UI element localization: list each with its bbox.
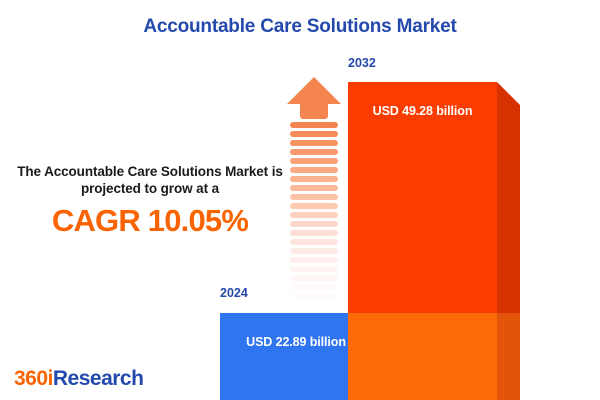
- arrow-segment: [290, 230, 338, 236]
- arrow-segment: [290, 140, 338, 146]
- arrow-segment: [290, 194, 338, 200]
- brand-logo: 360iResearch: [14, 367, 143, 391]
- bar-2032-value-label: USD 49.28 billion: [348, 104, 497, 118]
- arrow-segment: [290, 239, 338, 245]
- bar-label-year-2024: 2024: [220, 286, 248, 300]
- arrow-segment: [290, 185, 338, 191]
- arrow-head-icon: [287, 77, 341, 119]
- market-infographic: Accountable Care Solutions Market The Ac…: [0, 0, 600, 400]
- cagr-callout: The Accountable Care Solutions Market is…: [14, 163, 286, 238]
- arrow-segment: [290, 275, 338, 281]
- bar-2032-side-face-overlap: [497, 313, 520, 400]
- arrow-segment: [290, 203, 338, 209]
- arrow-segment: [290, 167, 338, 173]
- bar-label-year-2032: 2032: [348, 56, 376, 70]
- arrow-segment: [290, 149, 338, 155]
- arrow-segment: [290, 122, 338, 128]
- arrow-segment: [290, 158, 338, 164]
- bar-2032-side-face: [497, 105, 520, 313]
- arrow-segment: [290, 248, 338, 254]
- cagr-statement-text: The Accountable Care Solutions Market is…: [14, 163, 286, 197]
- growth-arrow-icon: [287, 77, 341, 293]
- arrow-head-triangle: [287, 77, 341, 104]
- arrow-segment: [290, 221, 338, 227]
- arrow-segment: [290, 176, 338, 182]
- arrow-head-neck: [300, 102, 328, 119]
- page-title: Accountable Care Solutions Market: [0, 16, 600, 38]
- cagr-value-text: CAGR 10.05%: [14, 204, 286, 238]
- arrow-segment: [290, 257, 338, 263]
- brand-logo-prefix: 360i: [14, 367, 53, 390]
- arrow-segment: [290, 293, 338, 299]
- bar-2032-front-face-overlap: [348, 313, 497, 400]
- bar-2032-side-top: [497, 82, 520, 105]
- brand-logo-suffix: Research: [53, 367, 144, 390]
- arrow-segment: [290, 284, 338, 290]
- arrow-gradient-stack: [290, 122, 338, 292]
- arrow-segment: [290, 212, 338, 218]
- arrow-segment: [290, 266, 338, 272]
- arrow-segment: [290, 131, 338, 137]
